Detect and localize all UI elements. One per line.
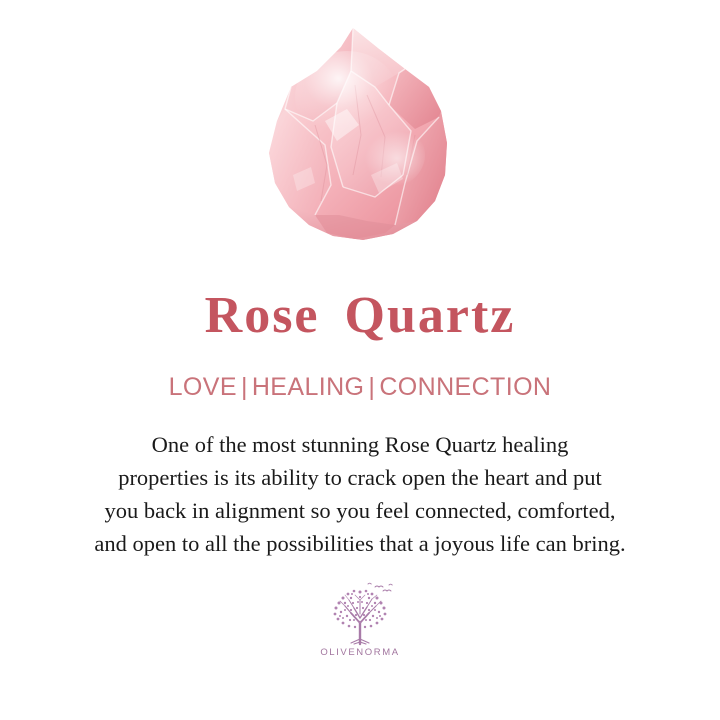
description-line-2: properties is its ability to crack open … bbox=[40, 461, 680, 494]
brand-logo: OLIVENORMA bbox=[320, 582, 399, 658]
brand-wordmark: OLIVENORMA bbox=[320, 647, 399, 658]
rose-quartz-crystal-image bbox=[255, 25, 465, 260]
tree-of-life-icon bbox=[321, 582, 399, 646]
description-paragraph: One of the most stunning Rose Quartz hea… bbox=[40, 428, 680, 560]
keyword-separator-1: | bbox=[237, 373, 252, 401]
page-title: Rose Quartz bbox=[205, 290, 516, 342]
keyword-separator-2: | bbox=[364, 373, 379, 401]
keyword-love: LOVE bbox=[169, 373, 237, 401]
keyword-healing: HEALING bbox=[252, 373, 365, 401]
flying-birds-icon bbox=[368, 583, 392, 591]
description-line-3: you back in alignment so you feel connec… bbox=[40, 494, 680, 527]
keywords-subtitle: LOVE|HEALING|CONNECTION bbox=[169, 375, 552, 400]
keyword-connection: CONNECTION bbox=[379, 373, 551, 401]
hero-image-container bbox=[0, 0, 720, 290]
rose-quartz-info-card: Rose Quartz LOVE|HEALING|CONNECTION One … bbox=[0, 0, 720, 720]
description-line-4: and open to all the possibilities that a… bbox=[40, 527, 680, 560]
description-line-1: One of the most stunning Rose Quartz hea… bbox=[40, 428, 680, 461]
